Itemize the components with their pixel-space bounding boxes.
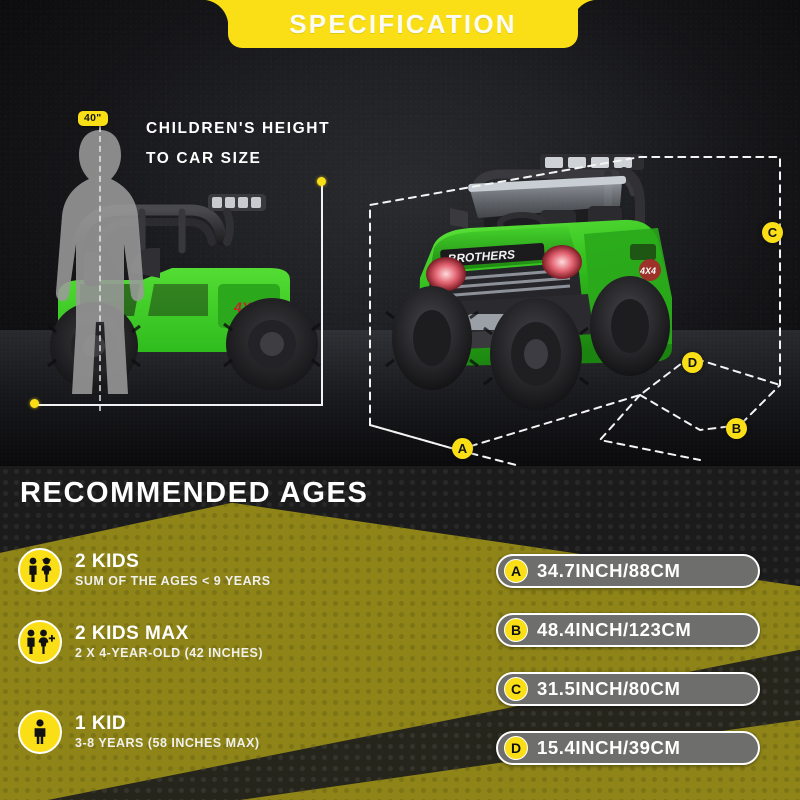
two-kids-max-icon [18, 620, 62, 664]
measure-dot-top [317, 177, 326, 186]
dimension-badge-b: B [504, 618, 528, 642]
specification-infographic: 4X4 [0, 0, 800, 800]
dimension-value-c: 31.5INCH/80CM [537, 678, 681, 700]
age-subtitle-2: 2 X 4-YEAR-OLD (42 INCHES) [75, 646, 263, 660]
dimension-pill-a: A 34.7INCH/88CM [496, 554, 760, 588]
measure-vertical-line [321, 182, 323, 406]
recommended-ages-section: RECOMMENDED AGES 2 KIDS SUM OF THE AGES … [0, 466, 800, 800]
ride-on-car-front-view: 4X4 BROTHERS [372, 148, 732, 423]
headline-line-2: TO CAR SIZE [146, 150, 262, 168]
dimension-pill-b: B 48.4INCH/123CM [496, 613, 760, 647]
one-kid-icon [18, 710, 62, 754]
headline-line-1: CHILDREN'S HEIGHT [146, 120, 330, 138]
measure-dot-left [30, 399, 39, 408]
svg-text:4X4: 4X4 [639, 266, 656, 276]
age-row-1: 2 KIDS SUM OF THE AGES < 9 YEARS [18, 548, 271, 592]
dimension-value-d: 15.4INCH/39CM [537, 737, 681, 759]
header-banner: SPECIFICATION [228, 0, 578, 48]
dimension-badge-d: D [504, 736, 528, 760]
callout-badge-d: D [682, 352, 703, 373]
age-subtitle-3: 3-8 YEARS (58 INCHES MAX) [75, 736, 260, 750]
dimension-pill-c: C 31.5INCH/80CM [496, 672, 760, 706]
banner-notch-left [202, 0, 228, 26]
callout-badge-b: B [726, 418, 747, 439]
age-title-2: 2 KIDS MAX [75, 624, 263, 645]
specification-section: 4X4 [0, 0, 800, 466]
callout-badge-a: A [452, 438, 473, 459]
age-subtitle-1: SUM OF THE AGES < 9 YEARS [75, 574, 271, 588]
callout-badge-c: C [762, 222, 783, 243]
two-kids-icon [18, 548, 62, 592]
age-row-2: 2 KIDS MAX 2 X 4-YEAR-OLD (42 INCHES) [18, 620, 263, 664]
age-title-3: 1 KID [75, 714, 260, 735]
dimension-badge-c: C [504, 677, 528, 701]
dimension-value-a: 34.7INCH/88CM [537, 560, 681, 582]
dimension-badge-a: A [504, 559, 528, 583]
dimension-pill-d: D 15.4INCH/39CM [496, 731, 760, 765]
age-row-3: 1 KID 3-8 YEARS (58 INCHES MAX) [18, 710, 260, 754]
section-title: RECOMMENDED AGES [20, 477, 368, 510]
header-banner-wrap: SPECIFICATION [0, 0, 800, 56]
measure-baseline [34, 404, 323, 406]
height-badge: 40" [78, 111, 108, 126]
age-title-1: 2 KIDS [75, 552, 271, 573]
page-title: SPECIFICATION [289, 9, 516, 40]
height-centerline [99, 126, 101, 411]
dimension-value-b: 48.4INCH/123CM [537, 619, 691, 641]
